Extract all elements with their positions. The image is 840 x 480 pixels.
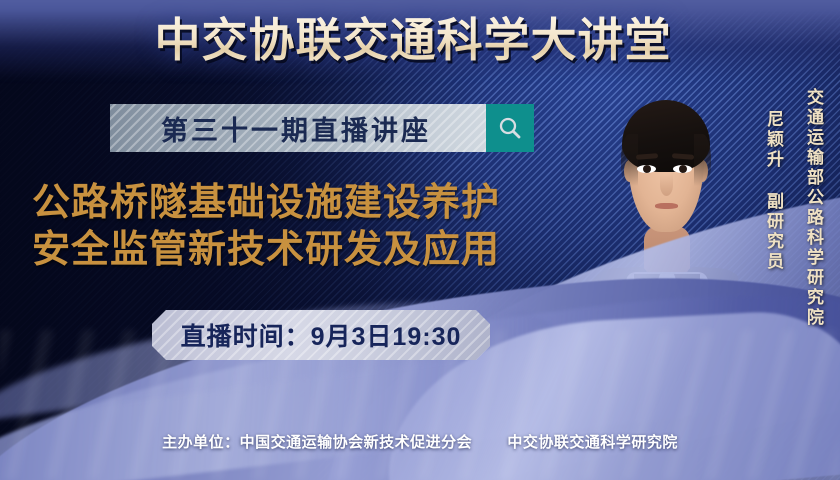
portrait-mouth <box>655 203 678 209</box>
lecture-headline: 公路桥隧基础设施建设养护 安全监管新技术研发及应用 <box>28 180 588 274</box>
footer-organizers: 主办单位：中国交通运输协会新技术促进分会 中交协联交通科学研究院 <box>0 431 840 452</box>
headline-line-2: 安全监管新技术研发及应用 <box>28 227 588 274</box>
speaker-name-title: 尼颖升 副研究员 <box>761 110 786 272</box>
live-stream-promo-poster: 中交协联交通科学大讲堂 第三十一期直播讲座 公路桥隧基础设施建设养护 安全监管新… <box>0 0 840 480</box>
search-icon <box>497 115 523 141</box>
broadcast-time-badge: 直播时间：9月3日19:30 <box>152 310 490 360</box>
portrait-hair-left <box>621 134 638 186</box>
portrait-hair-right <box>694 134 711 186</box>
headline-line-1: 公路桥隧基础设施建设养护 <box>28 180 588 227</box>
footer-organizer: 主办单位：中国交通运输协会新技术促进分会 <box>162 434 472 451</box>
portrait-nose <box>660 174 673 196</box>
episode-banner-label: 第三十一期直播讲座 <box>110 109 486 148</box>
page-title: 中交协联交通科学大讲堂 <box>128 16 698 64</box>
portrait-eye-left <box>637 165 656 173</box>
broadcast-time-label: 直播时间：9月3日19:30 <box>181 317 462 353</box>
search-icon-tile[interactable] <box>486 104 534 152</box>
episode-banner: 第三十一期直播讲座 <box>110 104 534 152</box>
portrait-eye-right <box>673 165 692 173</box>
footer-co-organizer: 中交协联交通科学研究院 <box>507 434 678 451</box>
speaker-organization: 交通运输部公路科学研究院 <box>801 88 826 328</box>
